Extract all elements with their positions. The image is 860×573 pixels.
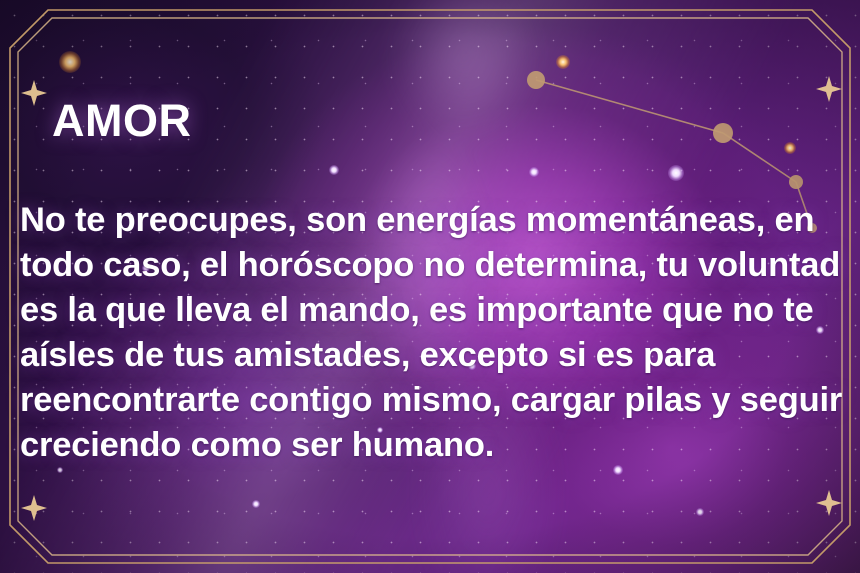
poster-content: AMOR No te preocupes, son energías momen… [0,0,860,573]
horoscope-poster: AMOR No te preocupes, son energías momen… [0,0,860,573]
page-title: AMOR [52,98,191,143]
horoscope-body-text: No te preocupes, son energías momentánea… [20,198,848,468]
